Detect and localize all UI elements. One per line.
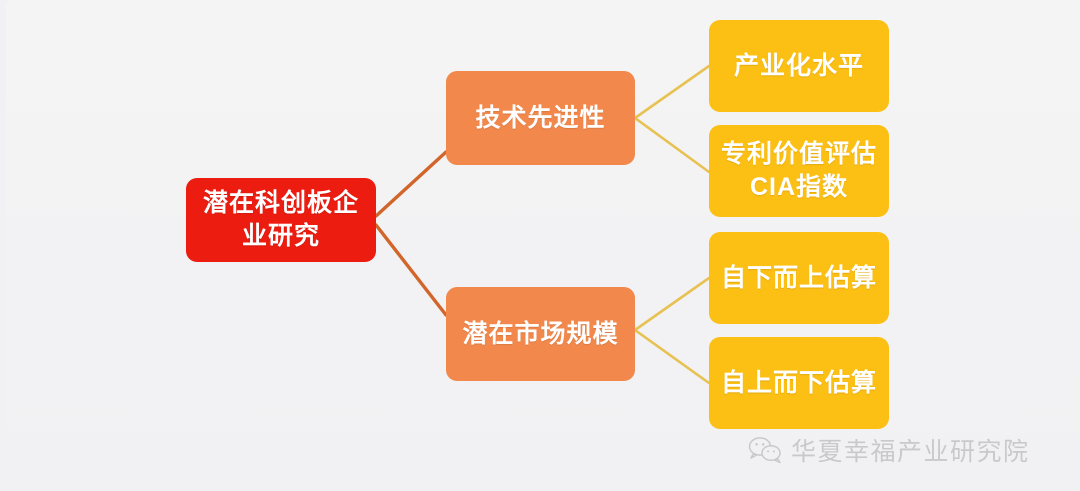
node-leaf-bottom-up-estimation[interactable]: 自下而上估算 — [709, 232, 889, 324]
node-leaf-2-label: 专利价值评估 CIA指数 — [721, 138, 877, 204]
node-branch-technical-advancement[interactable]: 技术先进性 — [446, 71, 635, 165]
node-leaf-patent-value-assessment[interactable]: 专利价值评估 CIA指数 — [709, 125, 889, 217]
node-root[interactable]: 潜在科创板企 业研究 — [186, 178, 376, 262]
diagram-canvas: 潜在科创板企 业研究 技术先进性 潜在市场规模 产业化水平 专利价值评估 CIA… — [0, 0, 1080, 491]
watermark-label: 华夏幸福产业研究院 — [791, 432, 1030, 468]
wechat-icon — [748, 435, 782, 465]
node-root-label: 潜在科创板企 业研究 — [203, 187, 359, 253]
node-branch-2-label-line-1: 潜在市场规模 — [462, 318, 618, 351]
node-branch-1-label: 技术先进性 — [475, 102, 605, 135]
node-leaf-1-label-line-1: 产业化水平 — [734, 50, 864, 83]
node-leaf-1-label: 产业化水平 — [734, 50, 864, 83]
node-root-label-line-2: 业研究 — [203, 220, 359, 253]
node-leaf-3-label-line-1: 自下而上估算 — [721, 262, 877, 295]
node-leaf-2-label-line-2: CIA指数 — [721, 171, 877, 204]
node-leaf-top-down-estimation[interactable]: 自上而下估算 — [709, 337, 889, 429]
node-root-label-line-1: 潜在科创板企 — [203, 187, 359, 220]
node-leaf-4-label-line-1: 自上而下估算 — [721, 367, 877, 400]
node-branch-1-label-line-1: 技术先进性 — [475, 102, 605, 135]
node-branch-2-label: 潜在市场规模 — [462, 318, 618, 351]
node-leaf-industrialization-level[interactable]: 产业化水平 — [709, 20, 889, 112]
node-leaf-2-label-line-1: 专利价值评估 — [721, 138, 877, 171]
watermark: 华夏幸福产业研究院 — [748, 432, 1030, 468]
node-leaf-3-label: 自下而上估算 — [721, 262, 877, 295]
node-branch-potential-market-size[interactable]: 潜在市场规模 — [446, 287, 635, 381]
node-leaf-4-label: 自上而下估算 — [721, 367, 877, 400]
